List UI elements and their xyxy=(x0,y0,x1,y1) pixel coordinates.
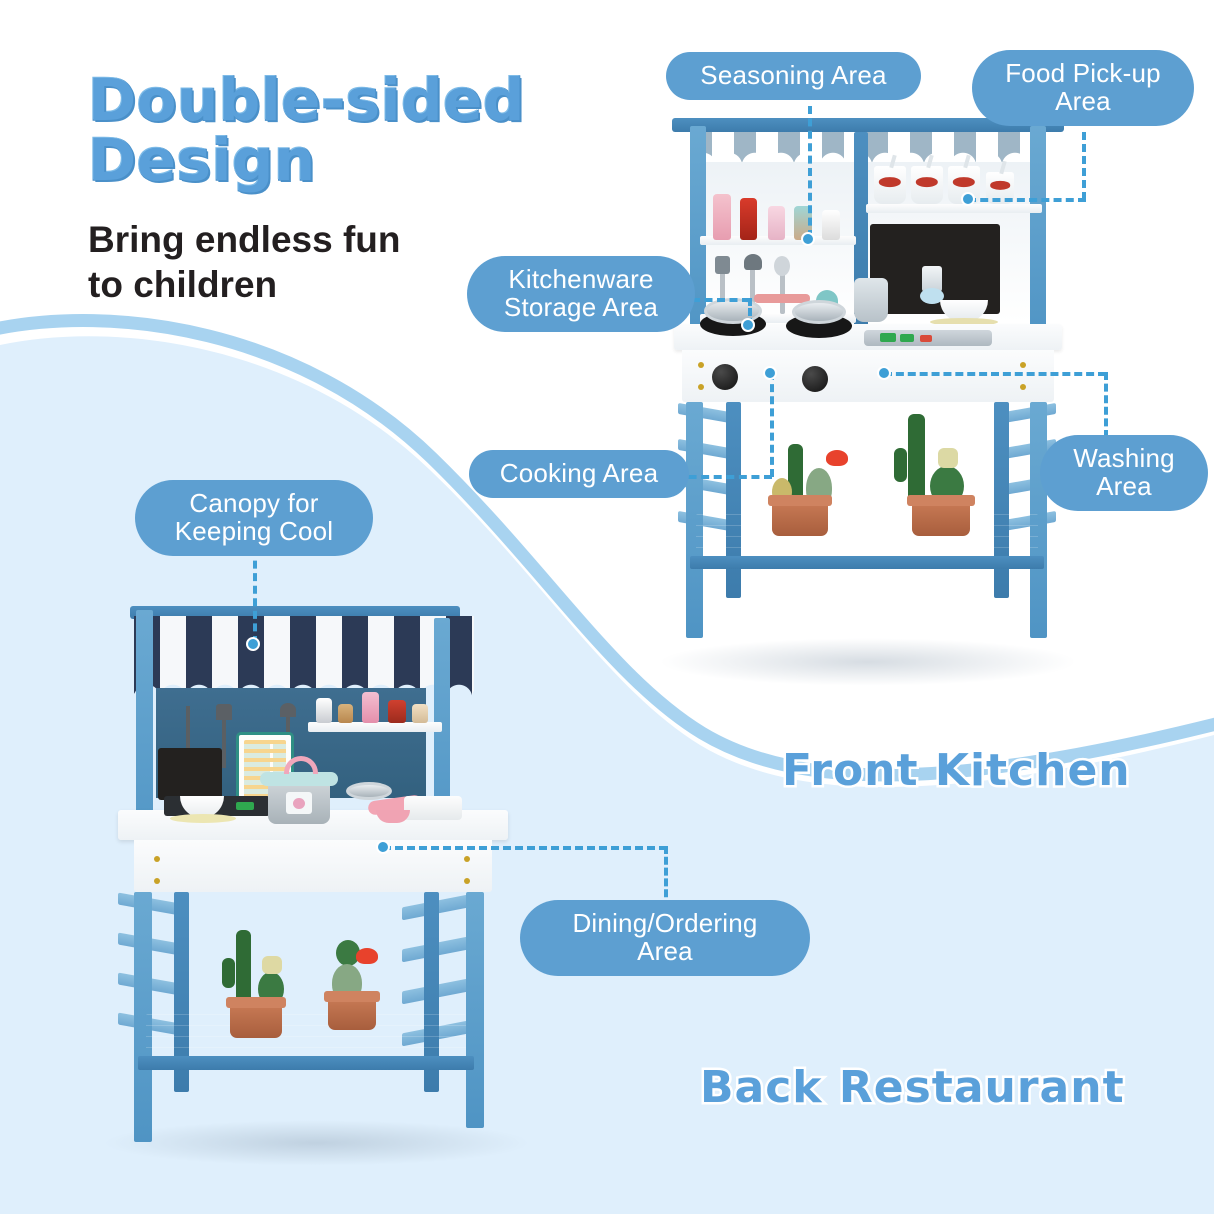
front-veg-3 xyxy=(920,335,932,342)
callout-kitchenware-storage-area[interactable]: Kitchenware Storage Area xyxy=(467,256,695,332)
connector-dot-dining xyxy=(376,840,390,854)
back-upper-shelf xyxy=(308,722,442,732)
front-blender xyxy=(854,278,888,322)
front-post-right xyxy=(1030,126,1046,346)
callout-seasoning-area[interactable]: Seasoning Area xyxy=(666,52,921,100)
connector-food-pickup-h xyxy=(968,198,1086,202)
connector-dining-h xyxy=(383,846,667,850)
front-apron-screw-3 xyxy=(1020,362,1026,368)
front-knob-left[interactable] xyxy=(712,364,738,390)
back-bottom-shelf xyxy=(146,1014,466,1060)
connector-dot-food-pickup xyxy=(961,192,975,206)
connector-dot-canopy xyxy=(246,637,260,651)
front-bottom-shelf-edge xyxy=(690,556,1044,569)
connector-kitchenware-h xyxy=(692,298,750,302)
connector-dining-v xyxy=(664,846,668,908)
front-knob-right[interactable] xyxy=(802,366,828,392)
front-veg-1 xyxy=(880,333,896,342)
infographic-canvas: Double-sided Design Bring endless fun to… xyxy=(0,0,1214,1214)
subtitle-line-1: Bring endless fun xyxy=(88,217,628,262)
front-bottom-shelf xyxy=(696,514,1038,558)
headline-line-2: Design xyxy=(88,130,628,190)
callout-canopy-keeping-cool[interactable]: Canopy for Keeping Cool xyxy=(135,480,373,556)
callout-cooking-area[interactable]: Cooking Area xyxy=(469,450,689,498)
front-pickup-shelf xyxy=(866,204,1042,213)
back-leg-front-right xyxy=(466,892,484,1128)
front-apron-screw-2 xyxy=(698,384,704,390)
connector-cooking-v xyxy=(770,372,774,477)
callout-washing-area[interactable]: Washing Area xyxy=(1040,435,1208,511)
front-veg-2 xyxy=(900,334,914,342)
callout-food-pickup-area[interactable]: Food Pick-up Area xyxy=(972,50,1194,126)
connector-cooking-h xyxy=(676,475,772,479)
front-apron-screw-4 xyxy=(1020,384,1026,390)
back-veg xyxy=(236,802,254,810)
connector-food-pickup-v xyxy=(1082,132,1086,200)
back-bottom-shelf-edge xyxy=(138,1056,474,1070)
connector-dot-seasoning xyxy=(801,232,815,246)
front-kitchen-unit xyxy=(668,118,1068,678)
back-canopy xyxy=(134,616,474,698)
connector-washing-h xyxy=(884,372,1106,376)
back-pan xyxy=(346,782,392,800)
back-apron-screw-4 xyxy=(464,878,470,884)
back-saucer xyxy=(170,814,236,823)
front-kitchen-section-title: Front Kitchen xyxy=(782,745,1131,796)
connector-dot-kitchenware xyxy=(741,318,755,332)
callout-dining-ordering-area[interactable]: Dining/Ordering Area xyxy=(520,900,810,976)
front-unit-shadow xyxy=(658,638,1078,686)
back-restaurant-section-title: Back Restaurant xyxy=(700,1062,1125,1113)
back-apron-screw-1 xyxy=(154,856,160,862)
back-white-tray xyxy=(404,796,462,820)
headline-line-1: Double-sided xyxy=(88,70,628,130)
front-apron-screw-1 xyxy=(698,362,704,368)
back-apron-screw-2 xyxy=(154,878,160,884)
connector-seasoning xyxy=(808,106,812,238)
connector-washing-v xyxy=(1104,372,1108,438)
connector-dot-cooking xyxy=(763,366,777,380)
connector-dot-washing xyxy=(877,366,891,380)
back-dark-box xyxy=(158,748,222,800)
back-apron-screw-3 xyxy=(464,856,470,862)
connector-canopy xyxy=(253,548,257,644)
front-pan-right xyxy=(792,300,846,324)
back-restaurant-unit xyxy=(112,600,522,1170)
front-canopy xyxy=(690,132,1046,166)
